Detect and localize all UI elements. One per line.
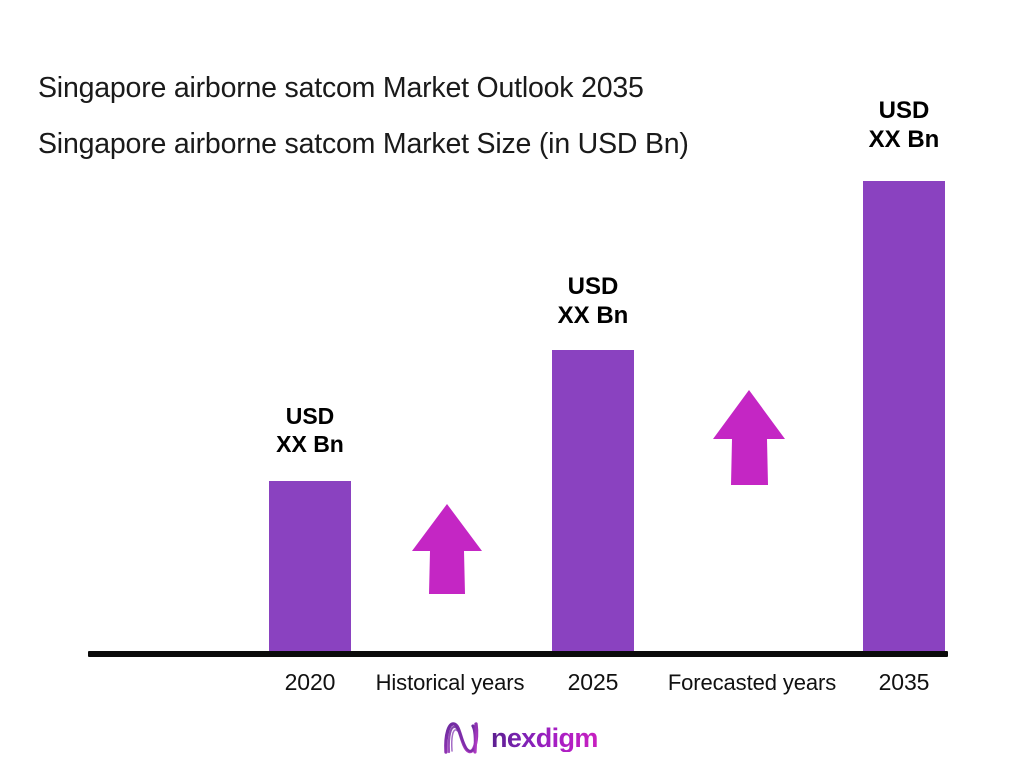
nexdigm-n-logo-icon [440, 718, 484, 758]
bar-value-label-2035-line1: USD [843, 96, 965, 125]
growth-arrow-forecast-icon [712, 389, 786, 486]
axis-period-forecasted-years: Forecasted years [642, 670, 862, 696]
axis-label-2025: 2025 [532, 669, 654, 696]
chart-title: Singapore airborne satcom Market Outlook… [38, 74, 838, 103]
chart-subtitle: Singapore airborne satcom Market Size (i… [38, 130, 838, 159]
title-block: Singapore airborne satcom Market Outlook… [38, 74, 838, 158]
bar-value-label-2035: USD XX Bn [843, 96, 965, 155]
bar-value-label-2020: USD XX Bn [249, 402, 371, 458]
axis-period-historical-years: Historical years [340, 670, 560, 696]
bar-value-label-2035-line2: XX Bn [843, 125, 965, 154]
bar-2020[interactable] [269, 481, 351, 654]
chart-canvas: Singapore airborne satcom Market Outlook… [0, 0, 1024, 768]
brand-logo: nexdigm [440, 718, 598, 758]
x-axis-line [88, 651, 948, 657]
bar-value-label-2020-line2: XX Bn [249, 430, 371, 458]
bar-value-label-2020-line1: USD [249, 402, 371, 430]
bar-value-label-2025-line1: USD [532, 272, 654, 301]
bar-2035[interactable] [863, 181, 945, 654]
growth-arrow-historical-icon [411, 503, 483, 595]
bar-2025[interactable] [552, 350, 634, 654]
bar-value-label-2025: USD XX Bn [532, 272, 654, 331]
axis-label-2035: 2035 [843, 669, 965, 696]
brand-wordmark: nexdigm [491, 725, 598, 752]
bar-value-label-2025-line2: XX Bn [532, 301, 654, 330]
